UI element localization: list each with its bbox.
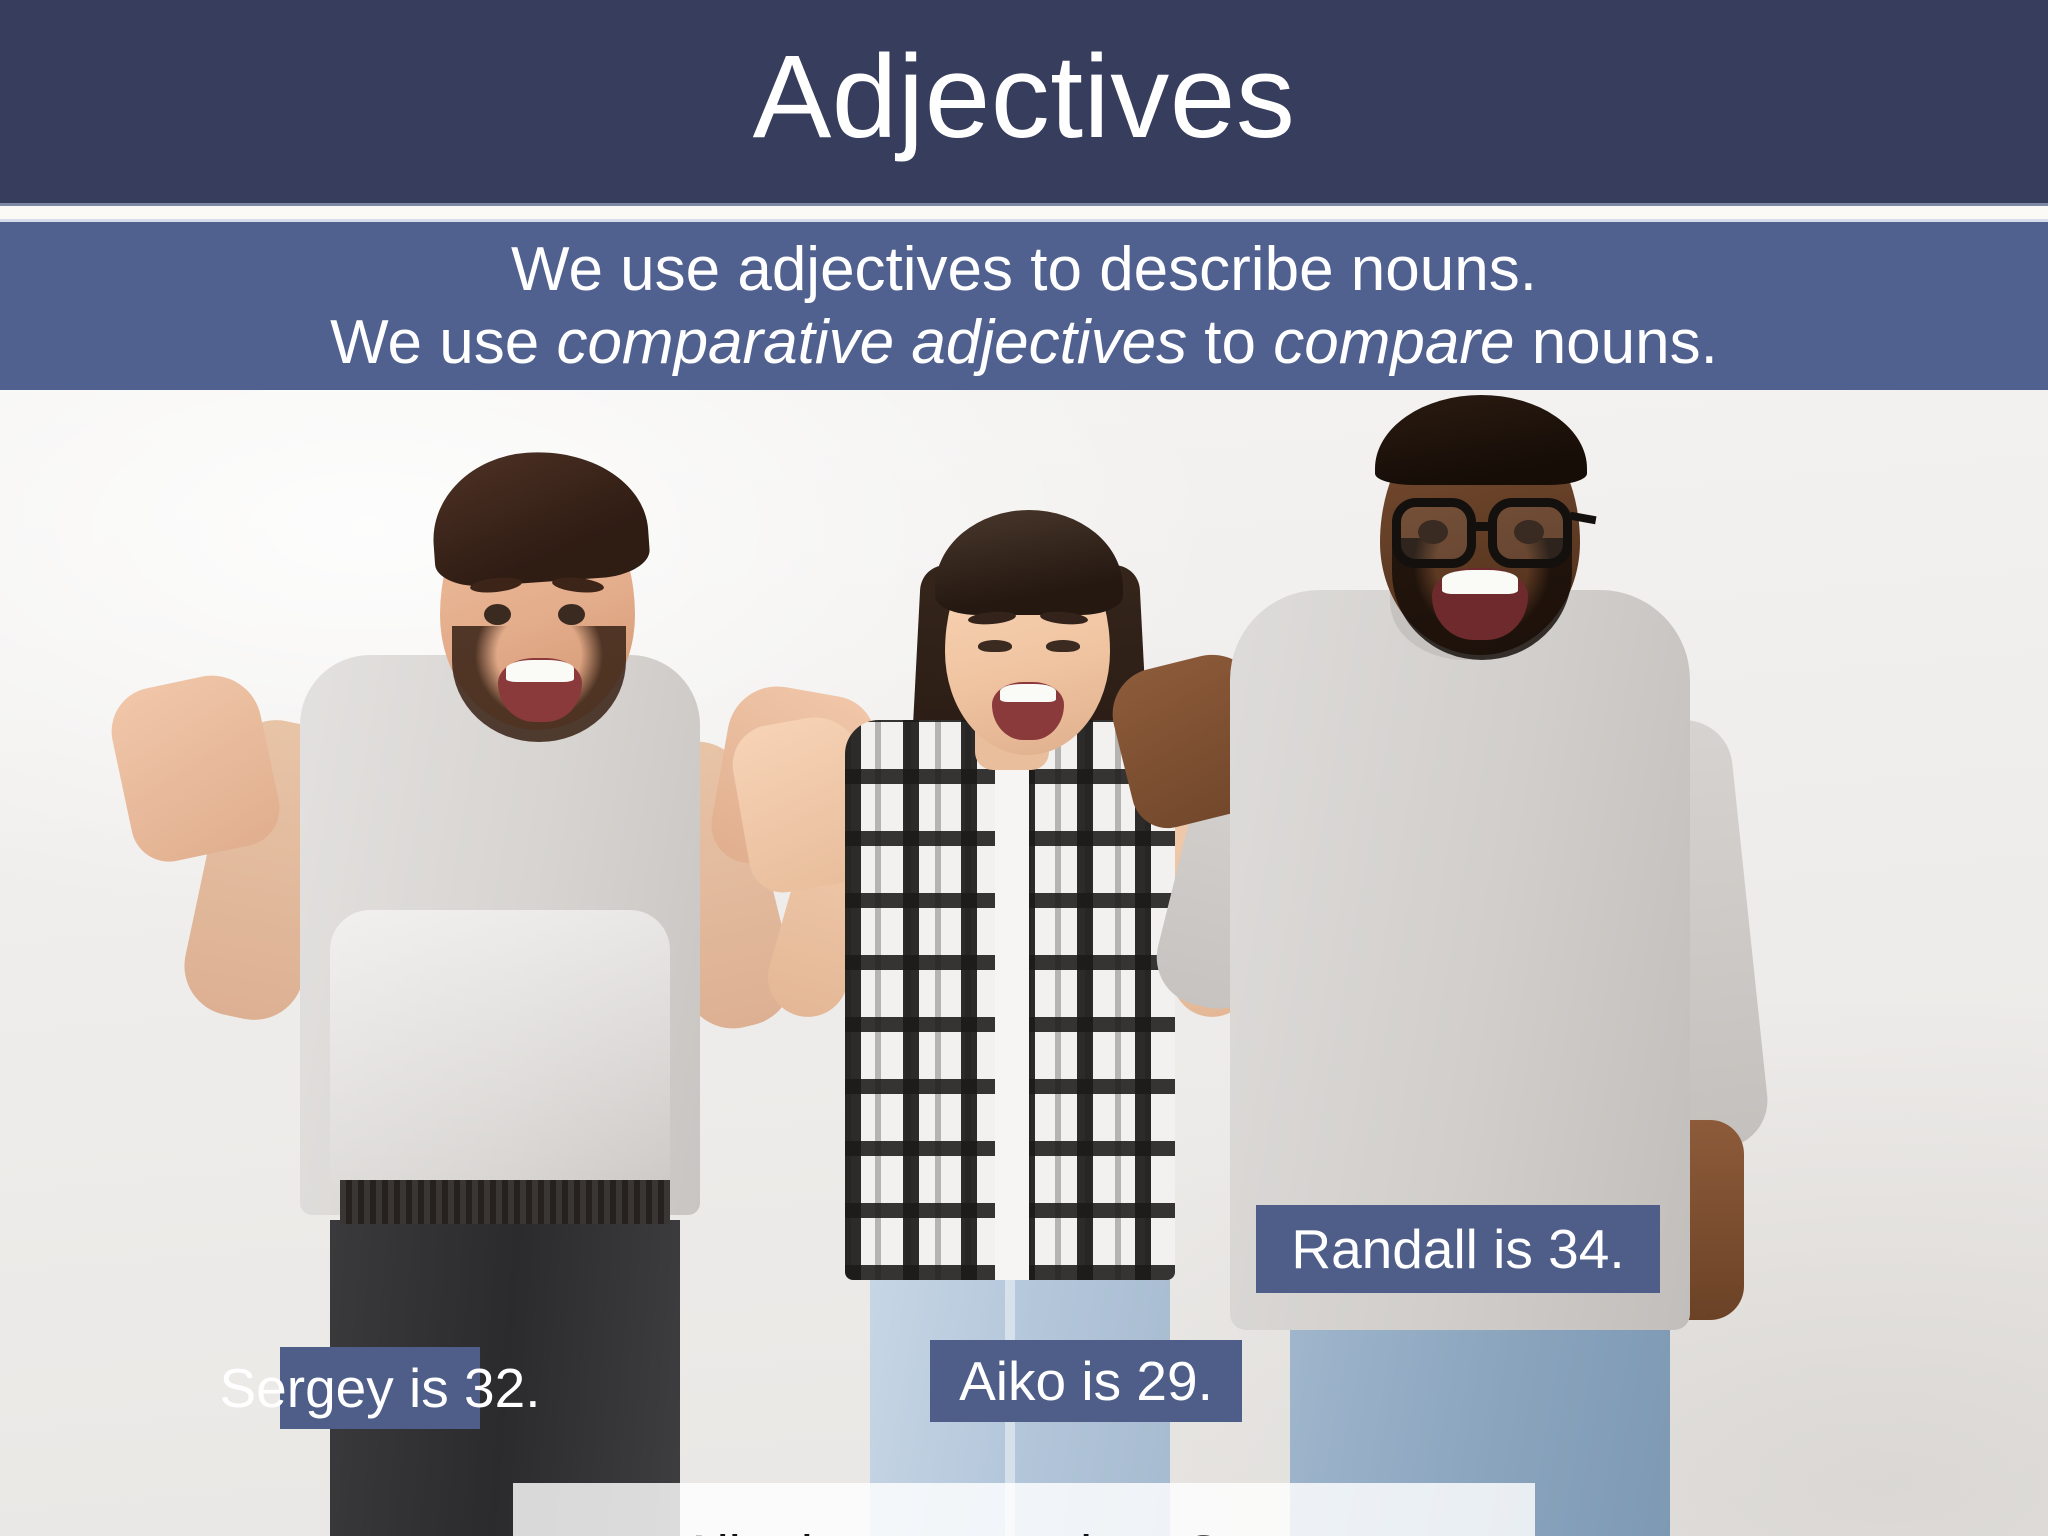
sergey-teeth (506, 660, 574, 682)
aiko-shirt-placket (995, 730, 1029, 1280)
sergey-belt (340, 1180, 670, 1224)
glasses-icon-left-lens (1392, 498, 1476, 568)
status-badge-aiko: Aiko is 29. (930, 1340, 1242, 1422)
randall-teeth (1442, 570, 1518, 594)
subtitle-band: We use adjectives to describe nouns. We … (0, 222, 2048, 390)
subtitle-line-2-prefix: We use (330, 308, 556, 377)
slide-root: Adjectives We use adjectives to describe… (0, 0, 2048, 1536)
aiko-left-eye (978, 640, 1012, 652)
aiko-teeth (1000, 684, 1056, 702)
status-badge-sergey: Sergey is 32. (280, 1347, 480, 1429)
comparison-sentences-box: Aiko is younger than Sergey. Sergey is o… (513, 1483, 1535, 1536)
title-bar: Adjectives (0, 0, 2048, 203)
comparison-sentence-1-suffix: than Sergey. (1050, 1525, 1367, 1536)
aiko-right-eye (1046, 640, 1080, 652)
subtitle-line-2: We use comparative adjectives to compare… (330, 306, 1718, 379)
sergey-right-eye (558, 604, 585, 625)
comparison-sentence-1-prefix: Aiko is (681, 1525, 855, 1536)
comparison-sentence-1-italic: younger (855, 1525, 1050, 1536)
header-separator (0, 203, 2048, 222)
glasses-icon-bridge (1476, 522, 1490, 531)
page-title: Adjectives (753, 38, 1296, 166)
subtitle-line-2-italic-comparative-adjectives: comparative adjectives (556, 308, 1187, 377)
subtitle-line-1: We use adjectives to describe nouns. (511, 233, 1537, 306)
subtitle-line-2-mid: to (1187, 308, 1273, 377)
group-photo: Randall is 34. Sergey is 32. Aiko is 29.… (0, 390, 2048, 1536)
glasses-icon-right-lens (1488, 498, 1572, 568)
sergey-shirt-fold (330, 910, 670, 1210)
subtitle-line-2-suffix: nouns. (1514, 308, 1717, 377)
comparison-sentence-1: Aiko is younger than Sergey. (553, 1527, 1495, 1536)
sergey-left-eye (484, 604, 511, 625)
status-badge-randall: Randall is 34. (1256, 1205, 1660, 1293)
subtitle-line-2-italic-compare: compare (1273, 308, 1514, 377)
